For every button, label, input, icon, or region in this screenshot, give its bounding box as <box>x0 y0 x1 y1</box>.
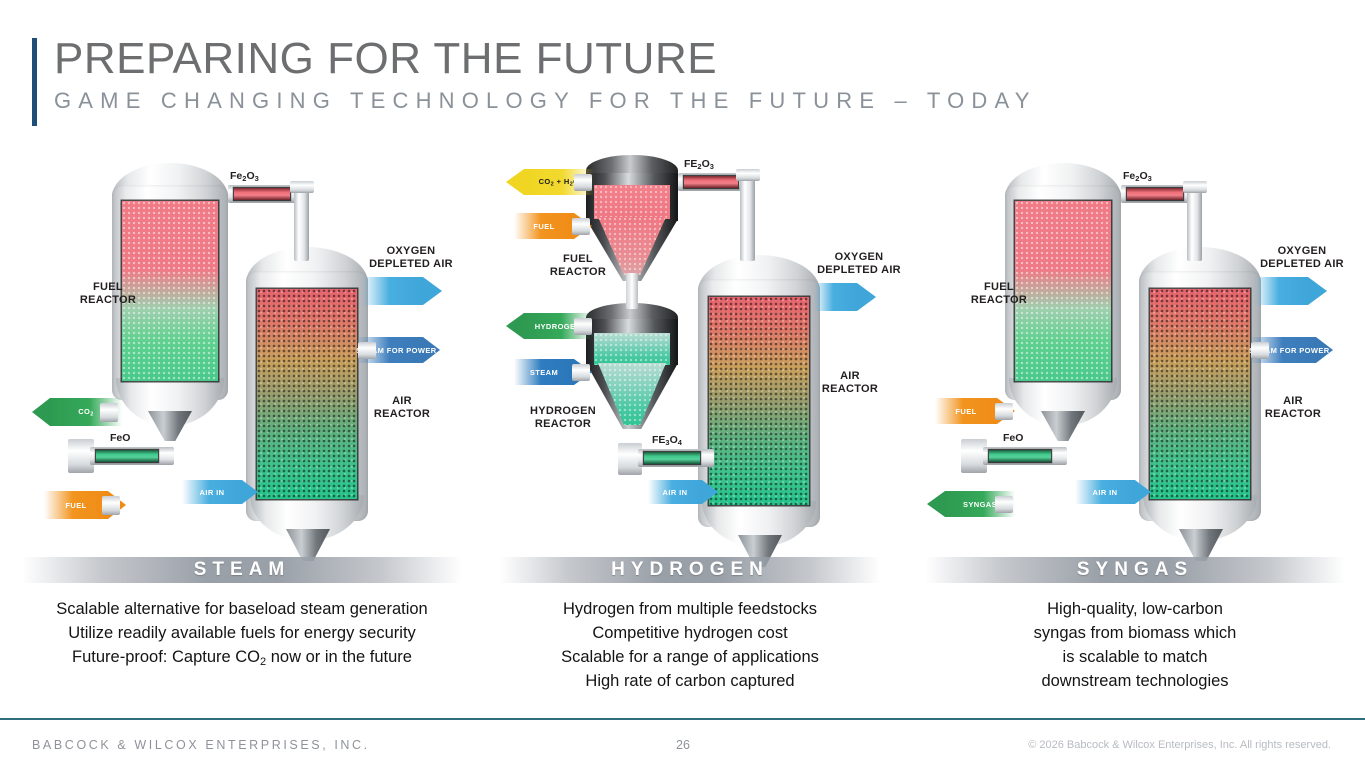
fe2o3-pipe-window <box>234 188 290 200</box>
arrow-body <box>362 277 423 305</box>
bullet-line: High rate of carbon captured <box>500 669 880 693</box>
steam-nozzle <box>572 364 590 381</box>
arrow-head <box>927 491 945 517</box>
steam-nozzle <box>358 342 376 359</box>
arrow-body: STEAM <box>514 359 574 385</box>
footer-divider <box>0 718 1365 720</box>
arrow-oxygen-depleted-air <box>814 283 876 311</box>
label-fe2o3: FE2O3 <box>684 158 714 171</box>
fuel-nozzle <box>572 218 590 235</box>
column-syngas: Fe2O3 FeO FUEL SYNGAS FUEL <box>925 155 1345 693</box>
arrow-head <box>857 283 876 311</box>
arrow-oxygen-depleted-air <box>1255 277 1327 305</box>
bullet-line: High-quality, low-carbon <box>925 597 1345 621</box>
label-oxygen-depleted-air: OXYGENDEPLETED AIR <box>1239 245 1365 271</box>
page-number: 26 <box>676 738 690 752</box>
bullets-steam: Scalable alternative for baseload steam … <box>22 597 462 674</box>
fuel-reactor-bed <box>594 185 670 219</box>
arrow-label: FUEL <box>514 222 574 231</box>
bullet-line: is scalable to match <box>925 645 1345 669</box>
footer-copyright: © 2026 Babcock & Wilcox Enterprises, Inc… <box>1028 739 1331 751</box>
fe2o3-pipe-window <box>684 176 738 188</box>
slide: PREPARING FOR THE FUTURE GAME CHANGING T… <box>0 0 1365 768</box>
pipe-flange <box>1183 181 1207 193</box>
co2-nozzle <box>100 403 118 422</box>
label-air-reactor: AIRREACTOR <box>1243 395 1343 421</box>
arrow-body: AIR IN <box>648 480 702 504</box>
label-fuel-reactor: FUELREACTOR <box>60 281 156 307</box>
air-reactor-bed <box>257 289 357 499</box>
label-fuel-reactor: FUELREACTOR <box>528 253 628 279</box>
bullets-hydrogen: Hydrogen from multiple feedstocks Compet… <box>500 597 880 693</box>
bullet-line: Scalable for a range of applications <box>500 645 880 669</box>
page-subtitle: GAME CHANGING TECHNOLOGY FOR THE FUTURE … <box>54 88 1037 114</box>
label-air-reactor: AIRREACTOR <box>800 370 900 396</box>
caption-bar-hydrogen: HYDROGEN <box>500 557 880 583</box>
label-feo: FeO <box>110 432 130 444</box>
label-fuel-reactor: FUELREACTOR <box>949 281 1049 307</box>
arrow-label: FUEL <box>44 501 108 510</box>
caption-bar-syngas: SYNGAS <box>925 557 1345 583</box>
caption-label: SYNGAS <box>1077 559 1193 581</box>
arrow-head <box>506 313 524 339</box>
arrow-air-in: AIR IN <box>182 480 258 504</box>
label-fe2o3: Fe2O3 <box>1123 170 1152 183</box>
air-reactor-bed <box>709 297 809 505</box>
bullet-line: Utilize readily available fuels for ener… <box>22 621 462 645</box>
fe2o3-downcomer <box>1187 181 1202 261</box>
syngas-nozzle <box>995 496 1013 513</box>
arrow-oxygen-depleted-air <box>362 277 442 305</box>
arrow-body: AIR IN <box>182 480 242 504</box>
footer-company: BABCOCK & WILCOX ENTERPRISES, INC. <box>32 738 370 752</box>
arrow-label: AIR IN <box>648 488 702 497</box>
bullet-line: Future-proof: Capture CO2 now or in the … <box>22 645 462 674</box>
arrow-head <box>1308 277 1327 305</box>
column-hydrogen: FE2O3 FE3O4 CO2 + H2O FUEL <box>500 155 880 693</box>
hydrogen-nozzle <box>574 318 592 335</box>
arrow-label: STEAM <box>514 368 574 377</box>
hydrogen-reactor-bed <box>594 333 670 365</box>
steam-nozzle <box>1251 342 1269 359</box>
feo-pipe-window <box>989 450 1051 462</box>
arrow-head <box>32 398 50 426</box>
diagram-steam: Fe2O3 FeO CO2 FUEL FUELREA <box>22 155 462 553</box>
label-hydrogen-reactor: HYDROGENREACTOR <box>508 405 618 431</box>
vessel-outlet-cone <box>148 411 192 441</box>
bullet-line: downstream technologies <box>925 669 1345 693</box>
co2-h2o-nozzle <box>574 174 592 191</box>
label-feo: FeO <box>1003 432 1023 444</box>
air-reactor-vessel <box>696 255 822 555</box>
fe3o4-pipe-window <box>644 452 700 464</box>
arrow-head <box>423 277 442 305</box>
title-accent-bar <box>32 38 37 126</box>
caption-bar-steam: STEAM <box>22 557 462 583</box>
bullet-line: Competitive hydrogen cost <box>500 621 880 645</box>
label-oxygen-depleted-air: OXYGENDEPLETED AIR <box>796 251 922 277</box>
fuel-nozzle <box>995 403 1013 420</box>
arrow-label: AIR IN <box>1075 488 1135 497</box>
label-fe3o4: FE3O4 <box>652 434 682 447</box>
column-steam: Fe2O3 FeO CO2 FUEL FUELREA <box>22 155 462 674</box>
pipe-flange <box>736 169 760 181</box>
bullet-line: syngas from biomass which <box>925 621 1345 645</box>
arrow-head <box>506 169 524 195</box>
arrow-body <box>1255 277 1308 305</box>
arrow-body: FUEL <box>44 491 108 519</box>
pipe-flange <box>290 181 314 193</box>
caption-label: STEAM <box>194 559 291 581</box>
vessel-outlet-cone <box>1041 411 1085 441</box>
fe2o3-downcomer <box>740 169 755 261</box>
arrow-label: FUEL <box>935 407 997 416</box>
bullet-line: Scalable alternative for baseload steam … <box>22 597 462 621</box>
bullet-line: Hydrogen from multiple feedstocks <box>500 597 880 621</box>
arrow-head <box>702 480 718 504</box>
diagram-hydrogen: FE2O3 FE3O4 CO2 + H2O FUEL <box>500 155 880 553</box>
arrow-body: FUEL <box>514 213 574 239</box>
arrow-label: AIR IN <box>182 488 242 497</box>
bullets-syngas: High-quality, low-carbon syngas from bio… <box>925 597 1345 693</box>
arrow-air-in: AIR IN <box>648 480 718 504</box>
arrow-body: AIR IN <box>1075 480 1135 504</box>
arrow-head <box>242 480 258 504</box>
label-fe2o3: Fe2O3 <box>230 170 259 183</box>
label-oxygen-depleted-air: OXYGENDEPLETED AIR <box>348 245 474 271</box>
fe2o3-pipe-window <box>1127 188 1183 200</box>
fe2o3-downcomer <box>294 181 309 261</box>
feo-pipe-window <box>96 450 158 462</box>
label-air-reactor: AIRREACTOR <box>352 395 452 421</box>
diagram-syngas: Fe2O3 FeO FUEL SYNGAS FUEL <box>925 155 1345 553</box>
fuel-nozzle <box>102 496 120 515</box>
arrow-head <box>1135 480 1151 504</box>
arrow-body: FUEL <box>935 398 997 424</box>
air-reactor-bed <box>1150 289 1250 499</box>
arrow-body <box>814 283 857 311</box>
arrow-air-in: AIR IN <box>1075 480 1151 504</box>
caption-label: HYDROGEN <box>611 559 769 581</box>
page-title: PREPARING FOR THE FUTURE <box>54 34 717 84</box>
